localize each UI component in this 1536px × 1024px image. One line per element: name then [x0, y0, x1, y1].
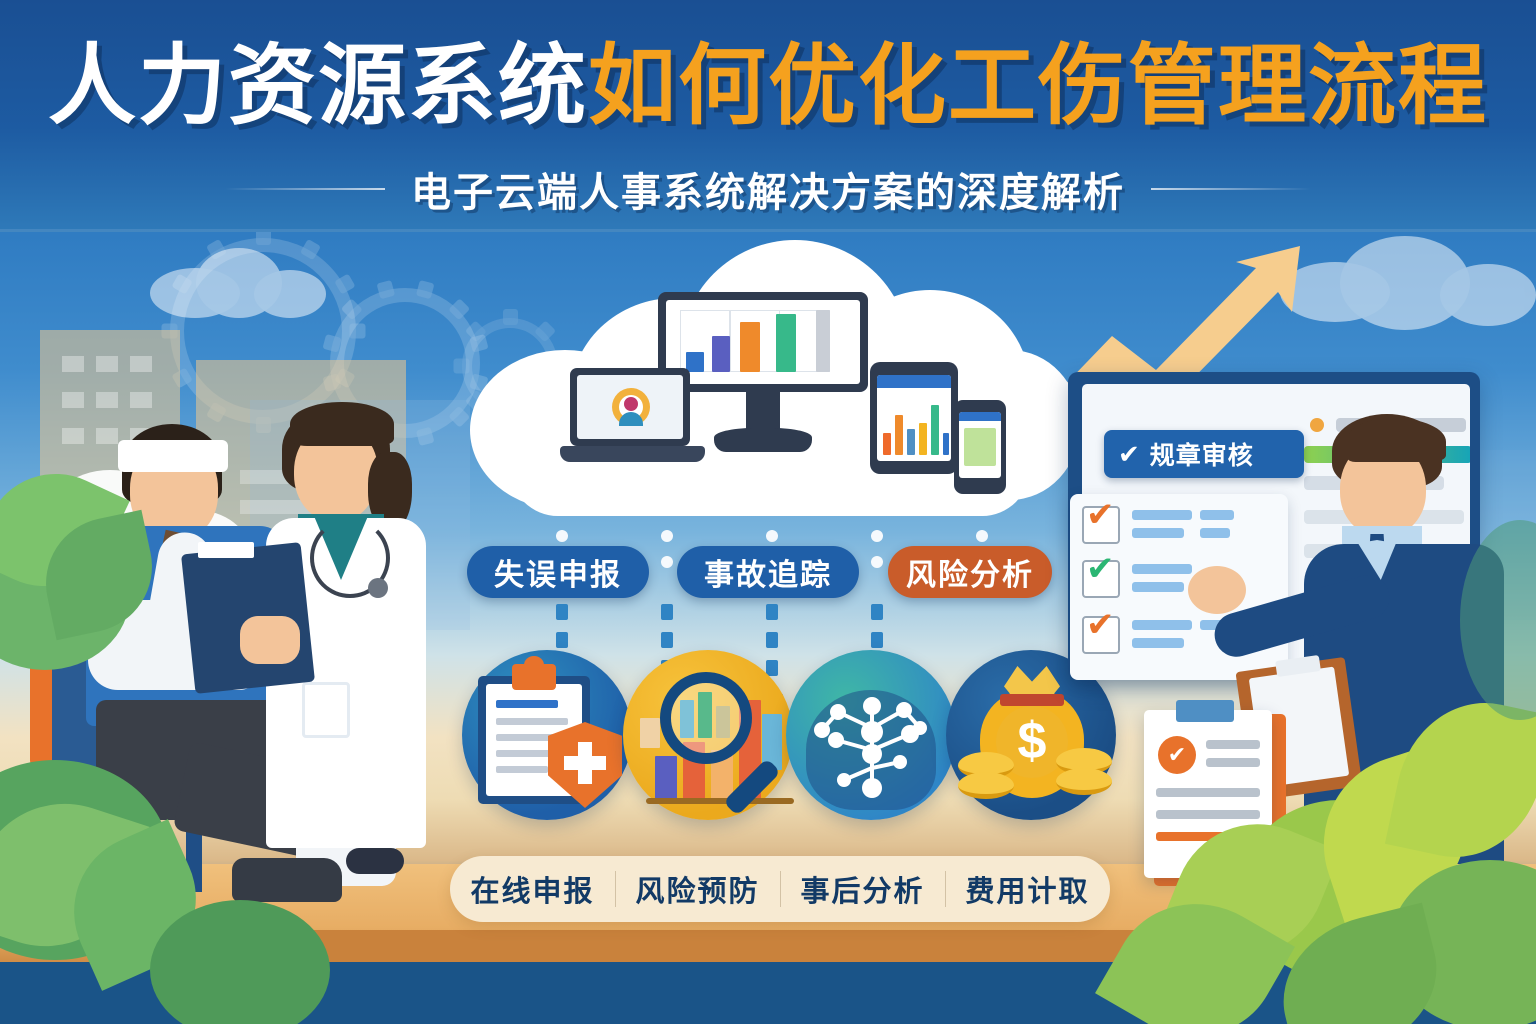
connector-dots: [871, 504, 883, 582]
coin-icon: [958, 772, 1014, 799]
board-status-chip[interactable]: ✔ 规章审核: [1104, 430, 1304, 478]
check-green-icon: ✔: [1086, 552, 1115, 586]
tablet-device: [870, 362, 958, 474]
flow-badge-1-label: 失误申报: [494, 550, 622, 594]
dollar-sign: $: [1014, 712, 1050, 772]
page-subtitle: 电子云端人事系统解决方案的深度解析: [411, 160, 1125, 218]
connector-dots: [661, 504, 673, 582]
ai-network-icon: [800, 676, 946, 816]
doctor-hand: [240, 616, 300, 664]
pill-item-2[interactable]: 风险预防: [615, 868, 780, 910]
doctor: [250, 396, 480, 916]
subtitle-row: 电子云端人事系统解决方案的深度解析: [0, 160, 1536, 218]
infographic-poster: 人力资源系统如何优化工伤管理流程 电子云端人事系统解决方案的深度解析: [0, 0, 1536, 1024]
subtitle-divider-right: [1151, 188, 1311, 190]
subtitle-divider-left: [225, 188, 385, 190]
doctor-shoe: [346, 848, 404, 874]
flow-badge-3-label: 风险分析: [906, 550, 1034, 594]
pill-item-4[interactable]: 费用计取: [945, 868, 1110, 910]
check-circle-icon: ✔: [1158, 736, 1196, 774]
check-orange-icon: ✔: [1086, 498, 1115, 532]
pill-item-3[interactable]: 事后分析: [780, 868, 945, 910]
flow-badge-2-label: 事故追踪: [704, 550, 832, 594]
chip-label: 规章审核: [1150, 436, 1254, 472]
flow-badge-3[interactable]: 风险分析: [888, 546, 1052, 598]
page-title: 人力资源系统如何优化工伤管理流程: [0, 42, 1536, 130]
laptop-device: [560, 368, 705, 472]
feature-pill-bar: 在线申报 风险预防 事后分析 费用计取: [450, 856, 1110, 922]
phone-device: [954, 400, 1006, 494]
flow-badge-1[interactable]: 失误申报: [467, 546, 649, 598]
check-orange-icon: ✔: [1086, 608, 1115, 642]
cloud-devices-panel: [470, 240, 1070, 530]
flow-badge-2[interactable]: 事故追踪: [677, 546, 859, 598]
title-white-part: 人力资源系统: [48, 36, 588, 135]
title-orange-part: 如何优化工伤管理流程: [588, 36, 1488, 135]
coin-icon: [1056, 768, 1112, 795]
check-icon: ✔: [1118, 441, 1140, 467]
